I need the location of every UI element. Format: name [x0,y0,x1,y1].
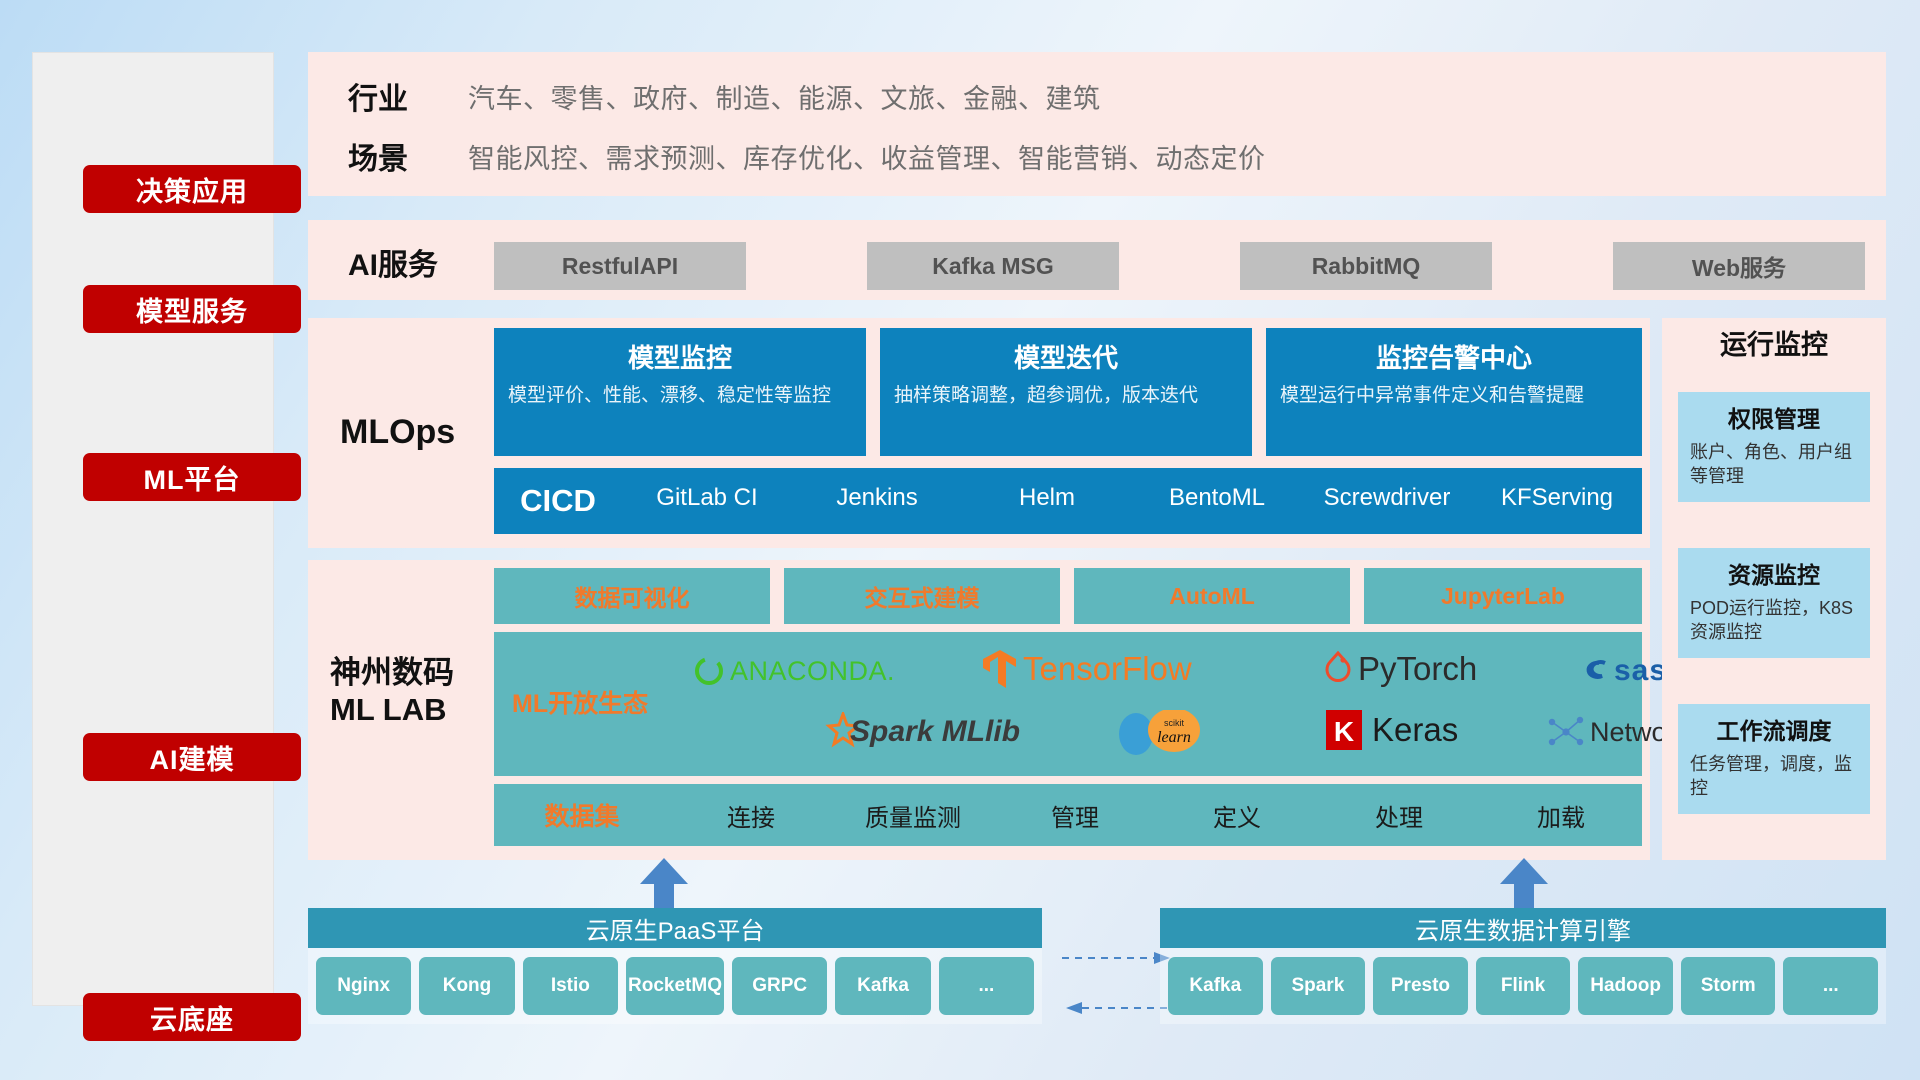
cicd-item-helm[interactable]: Helm [962,468,1132,512]
platform-item-nginx[interactable]: Nginx [316,957,411,1015]
stage-chip-ai-modeling[interactable]: AI建模 [83,733,301,781]
tensorflow-logo: TensorFlow [982,648,1192,690]
mlops-card-desc: 模型运行中异常事件定义和告警提醒 [1280,383,1628,408]
ml-ecosystem-box: ML开放生态 ANACONDA. TensorFlow [494,632,1642,776]
stage-rail: 决策应用 模型服务 ML平台 AI建模 云底座 [32,52,274,1006]
monitor-card-title: 工作流调度 [1690,712,1858,746]
keras-logo: K Keras [1324,708,1458,752]
mlops-card-model-monitoring[interactable]: 模型监控 模型评价、性能、漂移、稳定性等监控 [494,328,866,456]
dataset-item-connect[interactable]: 连接 [670,798,832,833]
anaconda-logo: ANACONDA. [692,654,895,688]
spark-mllib-label: Spark MLlib [850,715,1020,749]
cicd-item-jenkins[interactable]: Jenkins [792,468,962,512]
platform-item-spark[interactable]: Spark [1271,957,1366,1015]
service-chip-label: RabbitMQ [1312,253,1421,280]
monitor-card-title: 权限管理 [1690,400,1858,434]
platform-data-engine-items: Kafka Spark Presto Flink Hadoop Storm ..… [1160,948,1886,1024]
monitor-card-title: 资源监控 [1690,556,1858,590]
ml-logo-group: ANACONDA. TensorFlow PyTorch [684,638,1634,774]
application-row-value: 汽车、零售、政府、制造、能源、文旅、金融、建筑 [468,77,1101,116]
platform-item-storm[interactable]: Storm [1681,957,1776,1015]
monitor-card-desc: 任务管理，调度，监控 [1690,752,1858,800]
networkx-icon [1544,712,1586,752]
cicd-title: CICD [494,468,622,534]
modeling-label: 神州数码 ML LAB [330,655,454,728]
stage-label: 云底座 [150,998,234,1037]
tool-chip-interactive-modeling[interactable]: 交互式建模 [784,568,1060,624]
stage-chip-decision[interactable]: 决策应用 [83,165,301,213]
cicd-item-bentoml[interactable]: BentoML [1132,468,1302,512]
stage-label: 决策应用 [136,170,248,209]
tool-chip-jupyterlab[interactable]: JupyterLab [1364,568,1642,624]
mlops-card-title: 监控告警中心 [1280,338,1628,375]
arrow-left-dashed-icon [1062,1000,1174,1016]
cicd-bar: CICD GitLab CI Jenkins Helm BentoML Scre… [494,468,1642,534]
ai-service-label: AI服务 [348,248,438,283]
keras-label: Keras [1372,711,1458,749]
anaconda-label: ANACONDA. [730,656,895,687]
svg-text:scikit: scikit [1164,718,1184,728]
stage-label: AI建模 [150,738,235,777]
platform-item-more[interactable]: ... [939,957,1034,1015]
platform-paas-title: 云原生PaaS平台 [308,908,1042,948]
dataset-item-define[interactable]: 定义 [1156,798,1318,833]
pytorch-icon [1322,651,1354,687]
dataset-item-quality[interactable]: 质量监测 [832,798,994,833]
platform-item-kafka[interactable]: Kafka [835,957,930,1015]
tool-chip-automl[interactable]: AutoML [1074,568,1350,624]
monitor-card-permission[interactable]: 权限管理 账户、角色、用户组等管理 [1678,392,1870,502]
pytorch-label: PyTorch [1358,650,1477,688]
svg-text:learn: learn [1157,729,1191,746]
service-chip-restfulapi[interactable]: RestfulAPI [494,242,746,290]
mlops-card-model-iteration[interactable]: 模型迭代 抽样策略调整，超参调优，版本迭代 [880,328,1252,456]
tool-chip-label: 交互式建模 [865,579,980,613]
platform-item-flink[interactable]: Flink [1476,957,1571,1015]
monitor-card-desc: 账户、角色、用户组等管理 [1690,440,1858,488]
tool-chip-label: JupyterLab [1441,583,1565,610]
spark-mllib-logo: Spark MLlib [816,712,1020,752]
application-rows: 行业 汽车、零售、政府、制造、能源、文旅、金融、建筑 场景 智能风控、需求预测、… [348,52,1888,196]
mlops-card-alert-center[interactable]: 监控告警中心 模型运行中异常事件定义和告警提醒 [1266,328,1642,456]
arrow-right-dashed-icon [1062,950,1174,966]
application-row-scenario: 场景 智能风控、需求预测、库存优化、收益管理、智能营销、动态定价 [348,134,1266,178]
application-row-key: 行业 [348,74,468,118]
anaconda-icon [692,654,726,688]
dataset-item-process[interactable]: 处理 [1318,798,1480,833]
dataset-item-manage[interactable]: 管理 [994,798,1156,833]
service-chip-kafka-msg[interactable]: Kafka MSG [867,242,1119,290]
platform-data-engine-title: 云原生数据计算引擎 [1160,908,1886,948]
platform-item-kong[interactable]: Kong [419,957,514,1015]
mlops-label: MLOps [340,412,455,452]
keras-icon: K [1324,708,1364,752]
monitor-card-workflow[interactable]: 工作流调度 任务管理，调度，监控 [1678,704,1870,814]
runtime-monitor-title: 运行监控 [1662,318,1886,372]
stage-label: ML平台 [144,458,241,497]
cicd-item-kfserving[interactable]: KFServing [1472,468,1642,512]
platform-item-grpc[interactable]: GRPC [732,957,827,1015]
tensorflow-label: TensorFlow [1023,650,1192,688]
mlops-card-title: 模型监控 [508,338,852,375]
service-chip-label: RestfulAPI [562,253,678,280]
dataset-bar: 数据集 连接 质量监测 管理 定义 处理 加载 [494,784,1642,846]
platform-data-engine: 云原生数据计算引擎 Kafka Spark Presto Flink Hadoo… [1160,908,1886,1024]
platform-item-more[interactable]: ... [1783,957,1878,1015]
stage-label: 模型服务 [136,290,248,329]
tool-chip-label: 数据可视化 [575,579,690,613]
service-chip-label: Web服务 [1692,249,1786,283]
application-row-industry: 行业 汽车、零售、政府、制造、能源、文旅、金融、建筑 [348,74,1101,118]
platform-item-presto[interactable]: Presto [1373,957,1468,1015]
monitor-card-resource[interactable]: 资源监控 POD运行监控，K8S资源监控 [1678,548,1870,658]
diagram-canvas: 决策应用 模型服务 ML平台 AI建模 云底座 行业 汽车、零售、政府、制造、能… [0,0,1920,1080]
service-chip-label: Kafka MSG [932,253,1053,280]
platform-paas: 云原生PaaS平台 Nginx Kong Istio RocketMQ GRPC… [308,908,1042,1024]
tensorflow-icon [982,648,1018,690]
scikit-learn-icon: scikit learn [1116,710,1212,756]
platform-item-hadoop[interactable]: Hadoop [1578,957,1673,1015]
scikit-learn-logo: scikit learn [1116,710,1212,756]
ml-ecosystem-label: ML开放生态 [512,684,648,720]
sas-icon [1584,656,1614,686]
application-row-value: 智能风控、需求预测、库存优化、收益管理、智能营销、动态定价 [468,137,1266,176]
stage-chip-ml-platform[interactable]: ML平台 [83,453,301,501]
platform-item-kafka[interactable]: Kafka [1168,957,1263,1015]
sas-label: sas [1614,654,1667,688]
application-row-key: 场景 [348,134,468,178]
sas-logo: sas [1584,654,1667,688]
mlops-card-desc: 模型评价、性能、漂移、稳定性等监控 [508,383,852,408]
service-chip-web-service[interactable]: Web服务 [1613,242,1865,290]
platform-item-istio[interactable]: Istio [523,957,618,1015]
platform-paas-items: Nginx Kong Istio RocketMQ GRPC Kafka ... [308,948,1042,1024]
dataset-item-load[interactable]: 加载 [1480,798,1642,833]
platform-item-rocketmq[interactable]: RocketMQ [626,957,724,1015]
mlops-card-title: 模型迭代 [894,338,1238,375]
tool-chip-label: AutoML [1169,583,1255,610]
stage-chip-model-service[interactable]: 模型服务 [83,285,301,333]
cicd-item-gitlab-ci[interactable]: GitLab CI [622,468,792,512]
tool-chip-data-visualization[interactable]: 数据可视化 [494,568,770,624]
stage-chip-cloud-base[interactable]: 云底座 [83,993,301,1041]
monitor-card-desc: POD运行监控，K8S资源监控 [1690,596,1858,644]
dataset-title: 数据集 [494,797,670,833]
pytorch-logo: PyTorch [1322,650,1477,688]
svg-text:K: K [1334,716,1354,747]
service-chip-rabbitmq[interactable]: RabbitMQ [1240,242,1492,290]
cicd-item-screwdriver[interactable]: Screwdriver [1302,468,1472,512]
mlops-card-desc: 抽样策略调整，超参调优，版本迭代 [894,383,1238,408]
